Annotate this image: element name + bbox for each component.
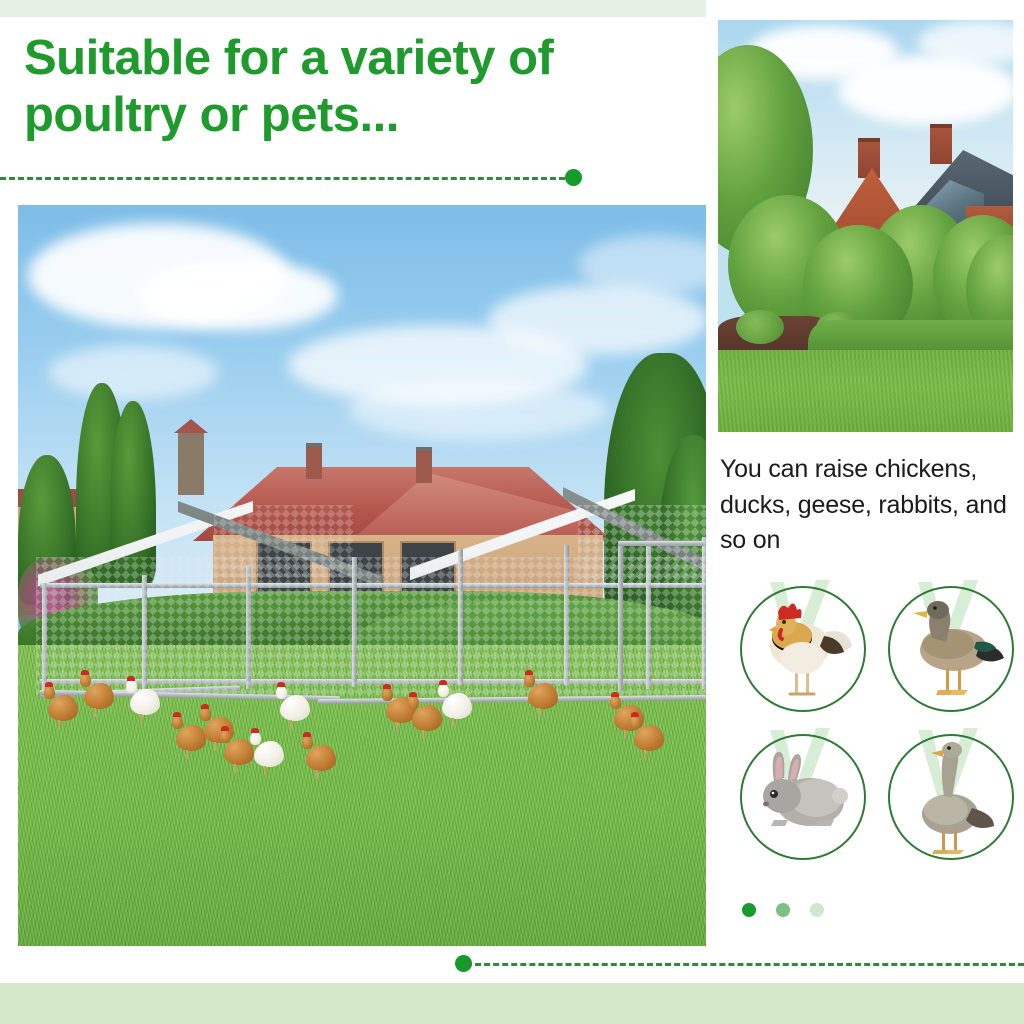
- top-accent-band: [0, 0, 706, 17]
- chicken: [280, 695, 310, 721]
- right-panel-caption: You can raise chickens, ducks, geese, ra…: [720, 452, 1020, 559]
- lawn: [718, 350, 1013, 432]
- chicken: [48, 695, 78, 721]
- goose-icon: [888, 734, 1014, 860]
- coop-door-header: [618, 541, 704, 546]
- chicken: [528, 683, 558, 709]
- chicken: [176, 725, 206, 751]
- chicken: [412, 705, 442, 731]
- bottom-accent-band: [0, 983, 1024, 1024]
- coop-door-frame: [618, 541, 623, 691]
- animal-cell-rabbit[interactable]: [726, 726, 874, 874]
- chimney-icon: [930, 124, 952, 164]
- animal-icon-grid: [726, 578, 1022, 874]
- carousel-dot-1[interactable]: [742, 903, 756, 917]
- cloud: [838, 55, 1013, 125]
- chicken: [254, 741, 284, 767]
- rabbit-icon: [740, 734, 866, 860]
- carousel-dots[interactable]: [742, 903, 824, 917]
- chimney-icon: [858, 138, 880, 178]
- chicken: [442, 693, 472, 719]
- garden-photo[interactable]: [718, 20, 1013, 432]
- wire-mesh-gable: [214, 505, 354, 577]
- bottom-dashed-rule: [466, 963, 1024, 966]
- top-dashed-rule: [0, 177, 574, 180]
- page-title: Suitable for a variety of poultry or pet…: [24, 30, 684, 145]
- chicken-coop-structure: [18, 205, 706, 946]
- chicken: [130, 689, 160, 715]
- duck-icon: [888, 586, 1014, 712]
- carousel-dot-3[interactable]: [810, 903, 824, 917]
- chicken: [306, 745, 336, 771]
- round-bush: [736, 310, 784, 344]
- animal-cell-duck[interactable]: [874, 578, 1022, 726]
- chicken: [634, 725, 664, 751]
- product-feature-page: Suitable for a variety of poultry or pet…: [0, 0, 1024, 1024]
- animal-cell-goose[interactable]: [874, 726, 1022, 874]
- top-rule-dot: [565, 169, 582, 186]
- chicken: [224, 739, 254, 765]
- animal-cell-chicken[interactable]: [726, 578, 874, 726]
- chicken: [84, 683, 114, 709]
- rooster-icon: [740, 586, 866, 712]
- main-product-photo[interactable]: [18, 205, 706, 946]
- carousel-dot-2[interactable]: [776, 903, 790, 917]
